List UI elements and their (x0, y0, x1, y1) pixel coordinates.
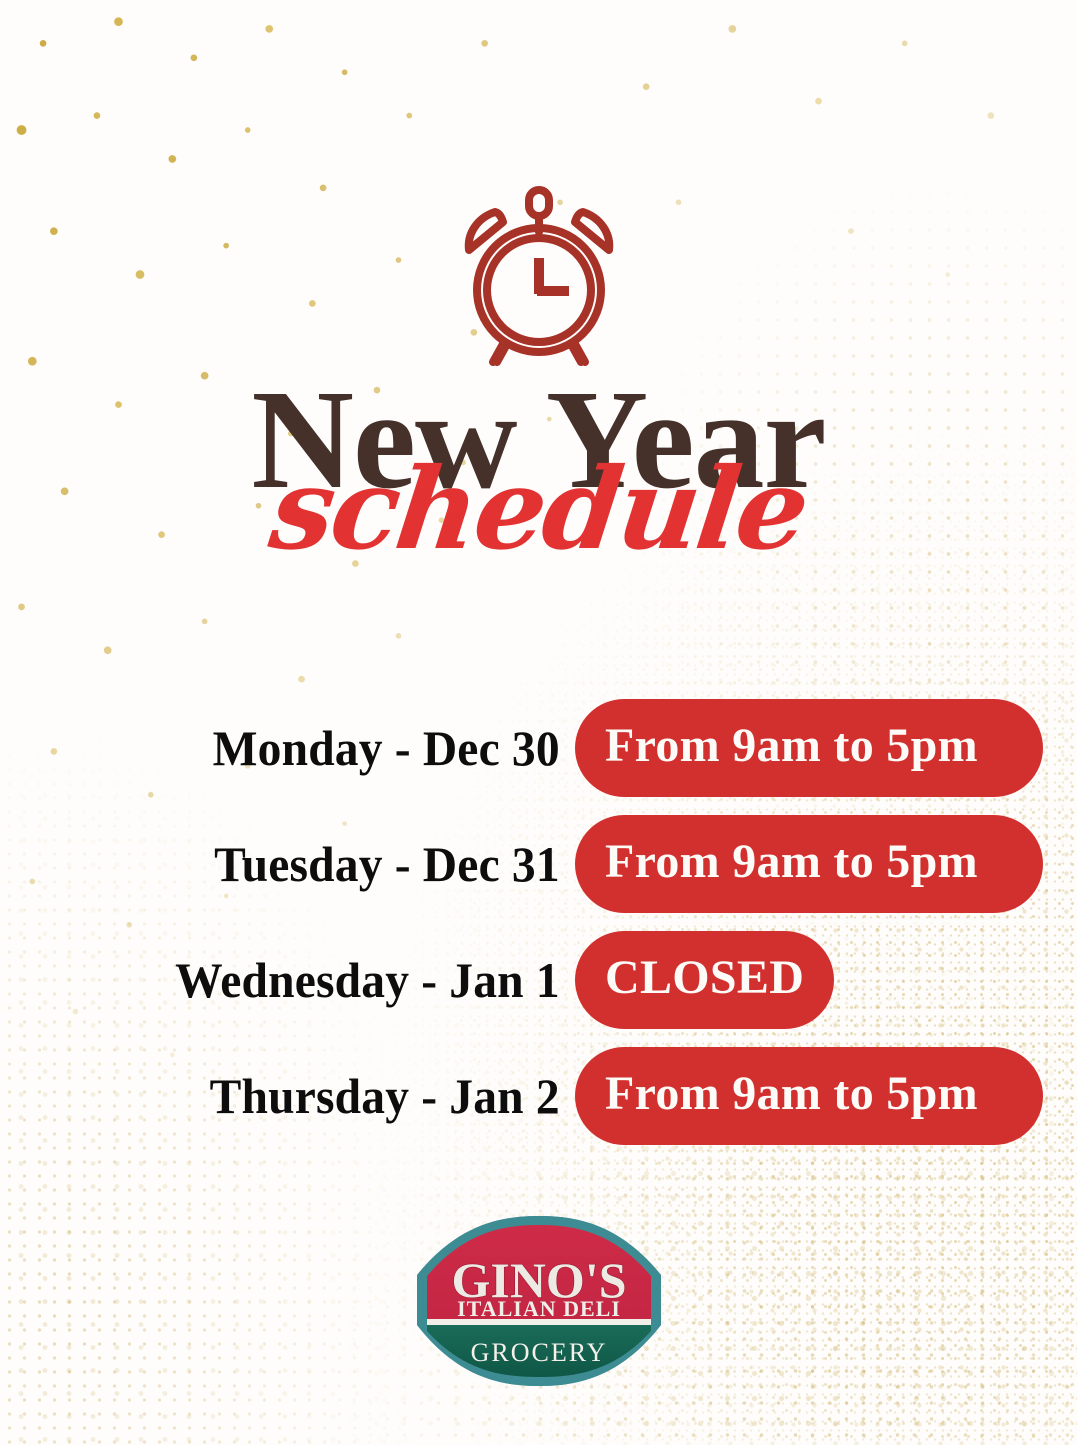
alarm-clock-icon (449, 186, 629, 368)
table-row: Thursday - Jan 2 From 9am to 5pm (0, 1038, 1077, 1154)
title-schedule: schedule (0, 465, 1077, 555)
schedule-day-label: Monday - Dec 30 (29, 719, 575, 777)
poster-canvas: New Year schedule Monday - Dec 30 From 9… (0, 0, 1077, 1445)
status-badge: From 9am to 5pm (575, 1047, 1043, 1145)
logo-subtitle: ITALIAN DELI (457, 1296, 621, 1321)
ginos-italian-deli-logo: GINO'S ITALIAN DELI GROCERY (407, 1213, 671, 1389)
schedule-list: Monday - Dec 30 From 9am to 5pm Tuesday … (0, 690, 1077, 1154)
table-row: Wednesday - Jan 1 CLOSED (0, 922, 1077, 1038)
status-badge: From 9am to 5pm (575, 815, 1043, 913)
schedule-day-label: Wednesday - Jan 1 (29, 951, 575, 1009)
table-row: Monday - Dec 30 From 9am to 5pm (0, 690, 1077, 806)
status-badge: From 9am to 5pm (575, 699, 1043, 797)
brand-logo-container: GINO'S ITALIAN DELI GROCERY (0, 1213, 1077, 1389)
logo-category: GROCERY (470, 1338, 607, 1367)
schedule-day-label: Thursday - Jan 2 (29, 1067, 575, 1125)
schedule-day-label: Tuesday - Dec 31 (29, 835, 575, 893)
table-row: Tuesday - Dec 31 From 9am to 5pm (0, 806, 1077, 922)
status-badge: CLOSED (575, 931, 834, 1029)
alarm-clock-container (0, 186, 1077, 368)
poster-title-block: New Year schedule (0, 372, 1077, 554)
